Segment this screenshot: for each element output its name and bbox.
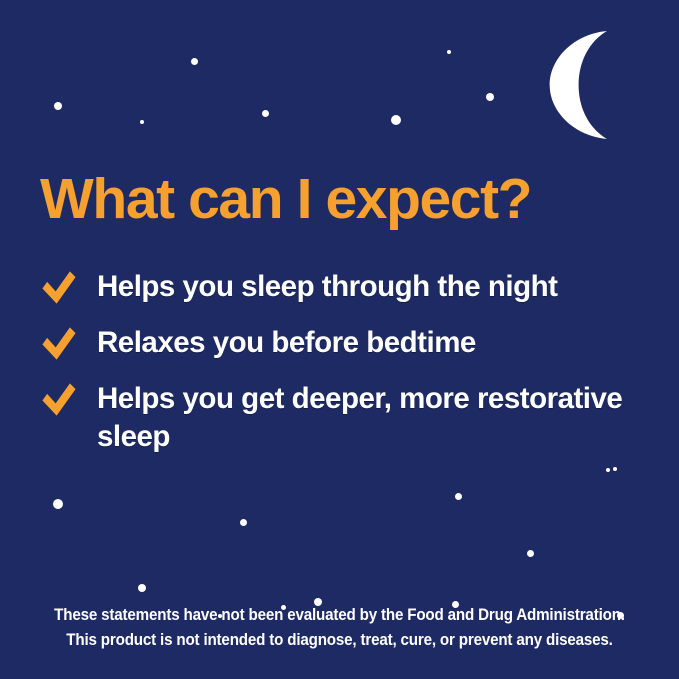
benefits-list: Helps you sleep through the night Relaxe…	[40, 268, 660, 470]
sleep-benefits-poster: What can I expect? Helps you sleep throu…	[0, 0, 679, 679]
orange-checkmark-icon	[40, 380, 92, 422]
star-dot	[262, 110, 269, 117]
orange-checkmark-icon	[40, 268, 92, 310]
star-dot	[527, 550, 534, 557]
list-item: Helps you get deeper, more restorative s…	[40, 380, 660, 456]
star-dot	[486, 93, 494, 101]
star-dot	[455, 493, 462, 500]
list-item-label: Helps you get deeper, more restorative s…	[92, 380, 660, 456]
crescent-moon-icon	[505, 25, 623, 145]
disclaimer-line-2: This product is not intended to diagnose…	[27, 628, 652, 653]
star-dot	[53, 499, 63, 509]
star-dot	[391, 115, 401, 125]
list-item-label: Relaxes you before bedtime	[92, 324, 660, 362]
orange-checkmark-icon	[40, 324, 92, 366]
list-item: Relaxes you before bedtime	[40, 324, 660, 366]
list-item: Helps you sleep through the night	[40, 268, 660, 310]
star-dot	[447, 50, 451, 54]
fda-disclaimer: These statements have not been evaluated…	[27, 603, 652, 653]
star-dot	[191, 58, 198, 65]
star-dot	[140, 120, 144, 124]
star-dot	[54, 102, 62, 110]
page-title: What can I expect?	[40, 166, 640, 232]
list-item-label: Helps you sleep through the night	[92, 268, 660, 306]
disclaimer-line-1: These statements have not been evaluated…	[27, 603, 652, 628]
star-dot	[240, 519, 247, 526]
star-dot	[138, 584, 146, 592]
